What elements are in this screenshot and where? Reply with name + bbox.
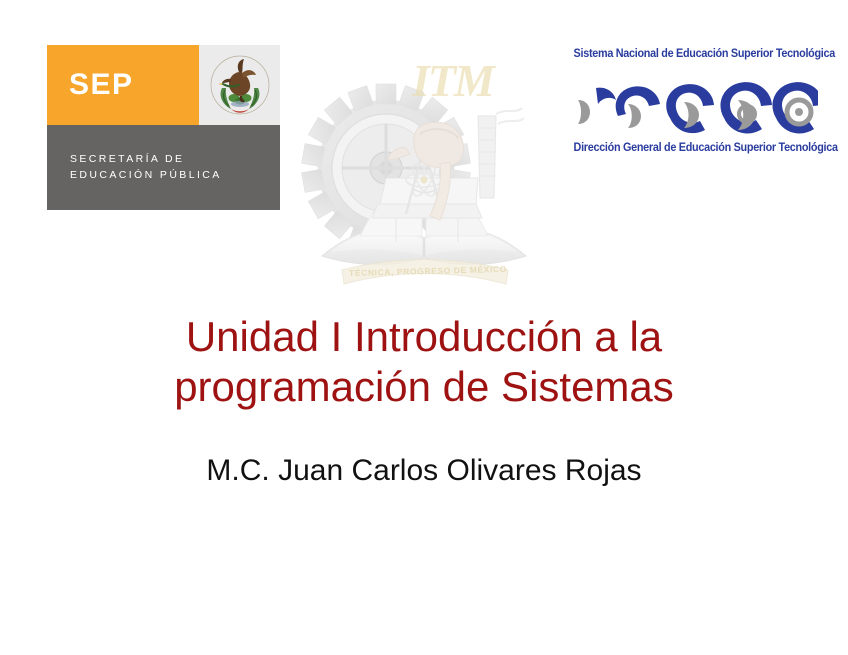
page-title: Unidad I Introducción a la programación …	[50, 312, 798, 412]
dgest-swirl-graphic	[566, 70, 818, 142]
sep-acronym-text: SEP	[69, 70, 134, 100]
sep-emblem-panel	[199, 45, 280, 125]
title-line-1: Unidad I Introducción a la	[50, 312, 798, 362]
sep-logo: SEP	[47, 45, 280, 210]
sep-secretaria-line: SECRETARÍA DE	[70, 151, 280, 167]
title-line-2: programación de Sistemas	[50, 362, 798, 412]
sep-orange-block: SEP	[47, 45, 199, 125]
sep-logo-top: SEP	[47, 45, 280, 125]
swirl-1	[578, 88, 616, 124]
author-name: M.C. Juan Carlos Olivares Rojas	[50, 452, 798, 490]
page-subtitle: M.C. Juan Carlos Olivares Rojas	[50, 452, 798, 490]
sep-educacion-line: EDUCACIÓN PÚBLICA	[70, 167, 280, 183]
mexican-coat-of-arms-icon	[209, 54, 271, 116]
factory-shape	[478, 116, 496, 198]
presentation-slide: SEP	[0, 0, 848, 655]
swirl-5	[772, 82, 818, 133]
dgest-title-text: Dirección General de Educación Superior …	[574, 142, 811, 154]
swirl-3	[666, 84, 714, 133]
snest-title-text: Sistema Nacional de Educación Superior T…	[574, 48, 811, 60]
itm-letters-text: ITM	[412, 46, 532, 116]
swirl-2	[616, 86, 660, 128]
swirl-4	[720, 82, 772, 133]
itm-emblem: ITM TÉCNICA, PROGRESO DE MÉXICO	[300, 28, 550, 310]
sep-logo-bottom: SECRETARÍA DE EDUCACIÓN PÚBLICA	[47, 125, 280, 210]
logo-band: SEP	[0, 0, 848, 310]
dgest-logo: Sistema Nacional de Educación Superior T…	[566, 48, 818, 170]
